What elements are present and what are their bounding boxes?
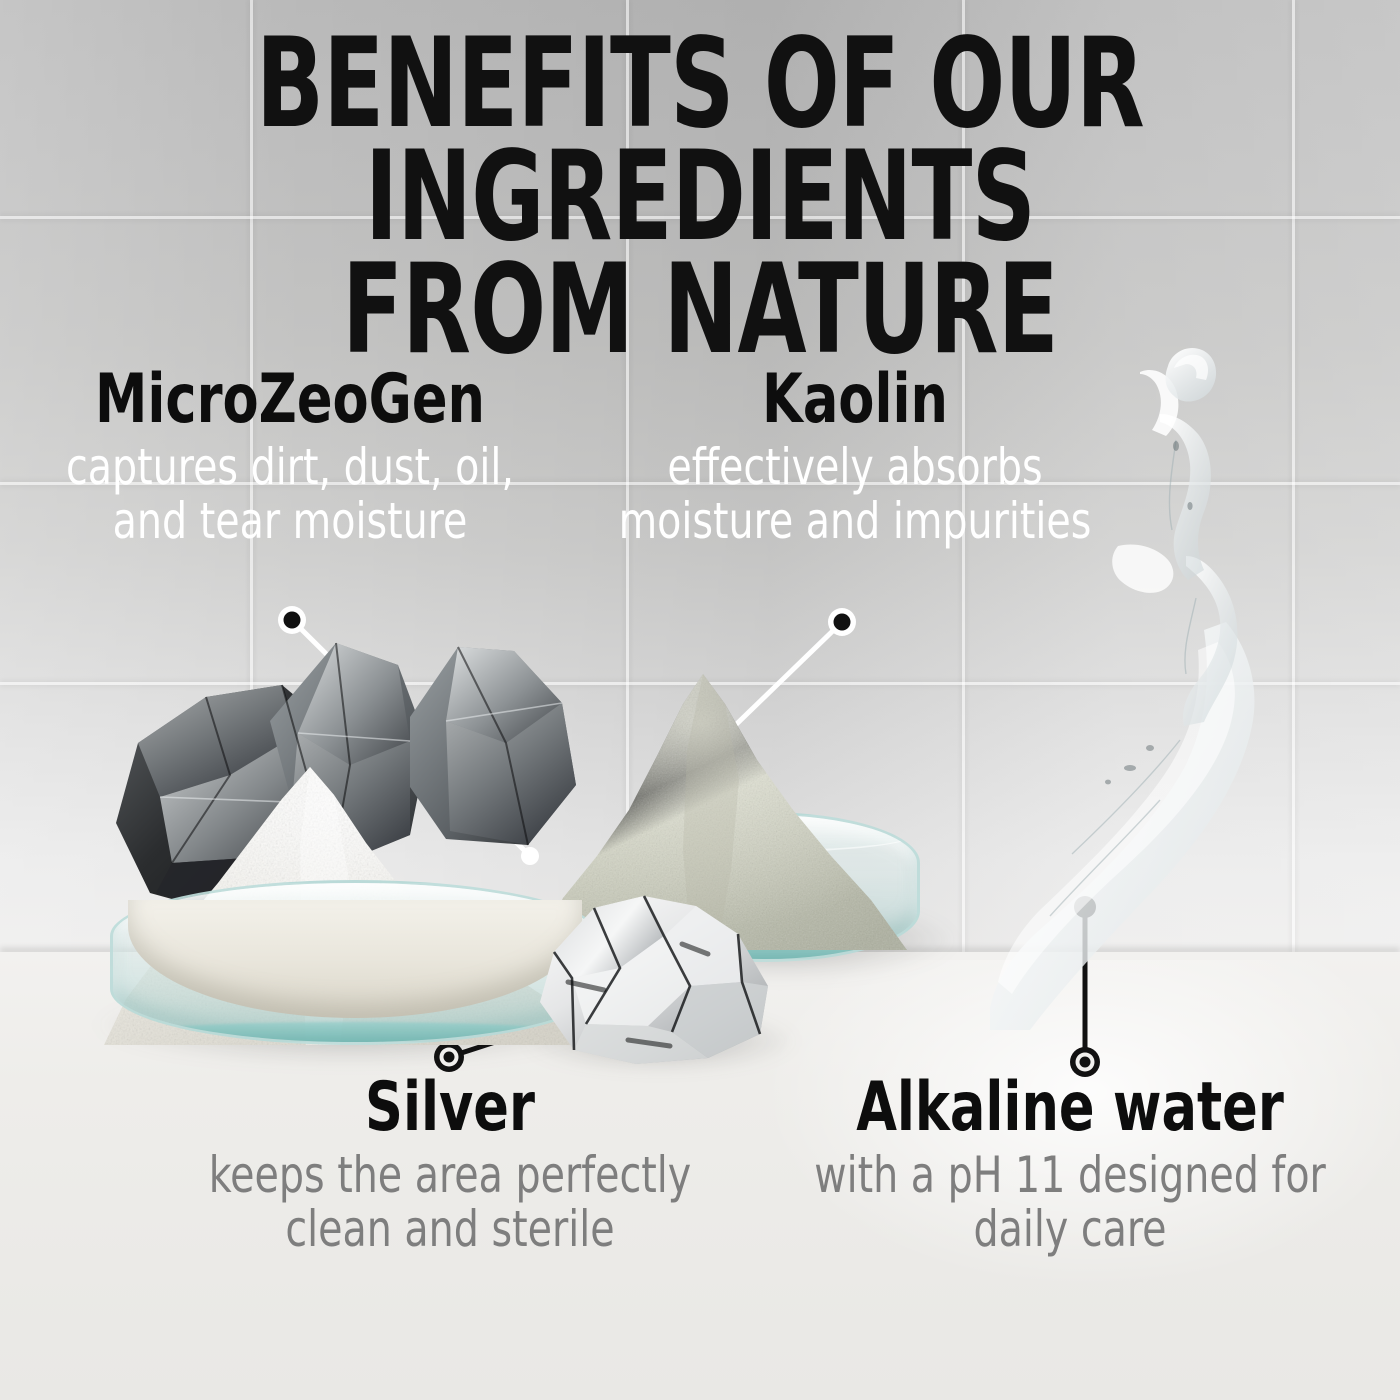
description-line-2: daily care xyxy=(797,1202,1343,1256)
ingredient-description-microzeogen: captures dirt, dust, oil, and tear moist… xyxy=(44,440,537,548)
description-line-2: clean and sterile xyxy=(177,1202,723,1256)
ingredient-label-alkaline-water: Alkaline water with a pH 11 designed for… xyxy=(760,1072,1380,1256)
page-title: BENEFITS OF OUR INGREDIENTS FROM NATURE xyxy=(140,28,1260,367)
infographic-canvas: BENEFITS OF OUR INGREDIENTS FROM NATURE … xyxy=(0,0,1400,1400)
description-line-1: captures dirt, dust, oil, xyxy=(44,440,537,494)
page-title-line-1: BENEFITS OF OUR INGREDIENTS xyxy=(140,28,1260,254)
ingredient-heading-silver: Silver xyxy=(183,1072,716,1144)
ingredient-label-microzeogen: MicroZeoGen captures dirt, dust, oil, an… xyxy=(10,364,570,548)
description-line-2: and tear moisture xyxy=(44,494,537,548)
ingredient-description-alkaline-water: with a pH 11 designed for daily care xyxy=(797,1148,1343,1256)
description-line-1: with a pH 11 designed for xyxy=(797,1148,1343,1202)
description-line-1: keeps the area perfectly xyxy=(177,1148,723,1202)
ingredient-heading-alkaline-water: Alkaline water xyxy=(803,1072,1336,1144)
ingredient-description-silver: keeps the area perfectly clean and steri… xyxy=(177,1148,723,1256)
water-splash xyxy=(990,330,1320,1030)
ingredient-label-silver: Silver keeps the area perfectly clean an… xyxy=(140,1072,760,1256)
silver-nugget xyxy=(532,890,782,1070)
water-droplet xyxy=(1148,338,1228,418)
ingredient-heading-microzeogen: MicroZeoGen xyxy=(49,364,531,436)
